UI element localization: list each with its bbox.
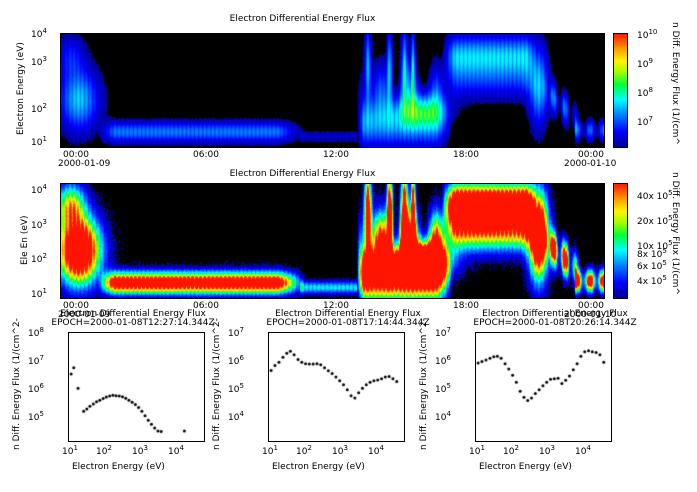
bottom-middle-x-tick-4: 104 (368, 447, 384, 457)
top-colorbar-frame (613, 33, 628, 148)
bottom-right-y-tick-4: 104 (435, 413, 451, 423)
top-panel-title: Electron Differential Energy Flux (0, 14, 605, 24)
bottom-left-y-tick-7: 107 (28, 357, 44, 367)
bottom-left-ylabel: n Diff. Energy Flux (1/(cm^2- (12, 318, 22, 450)
top-y-tick-3: 103 (31, 58, 47, 68)
middle-panel-ylabel: Ele En (eV) (20, 215, 30, 265)
top-y-tick-1: 101 (31, 138, 47, 148)
middle-colorbar-frame (613, 183, 628, 299)
top-y-tick-2: 102 (31, 105, 47, 115)
bottom-right-y-tick-7: 107 (435, 329, 451, 339)
bottom-right-x-tick-1: 101 (469, 447, 485, 457)
top-colorbar-tick-9: 109 (637, 60, 653, 70)
bottom-right-x-tick-4: 104 (575, 447, 591, 457)
middle-y-tick-4: 104 (31, 186, 47, 196)
bottom-left-y-tick-5: 105 (28, 413, 44, 423)
bottom-right-subtitle: EPOCH=2000-01-08T20:26:14.344Z (460, 318, 650, 328)
bottom-left-y-tick-8: 108 (28, 329, 44, 339)
middle-colorbar-label: n Diff. Energy Flux (1/(cm^ (670, 172, 680, 295)
bottom-middle-x-tick-3: 103 (332, 447, 348, 457)
bottom-middle-ylabel: n Diff. Energy Flux (1/(cm^2- (212, 318, 222, 450)
bottom-right-ylabel: n Diff. Energy Flux (1/(cm^2- (419, 318, 429, 450)
top-x-date-right: 2000-01-10 (564, 159, 616, 169)
middle-y-tick-1: 101 (31, 290, 47, 300)
bottom-middle-xlabel: Electron Energy (eV) (272, 462, 365, 472)
bottom-right-x-tick-2: 102 (503, 447, 519, 457)
bottom-left-x-tick-1: 101 (62, 447, 78, 457)
middle-panel-title: Electron Differential Energy Flux (0, 169, 605, 179)
bottom-left-y-tick-6: 106 (28, 385, 44, 395)
top-x-tick-3: 18:00 (453, 150, 479, 160)
bottom-left-x-tick-3: 103 (132, 447, 148, 457)
top-y-tick-4: 104 (31, 30, 47, 40)
bottom-right-frame (475, 332, 612, 442)
bottom-right-xlabel: Electron Energy (eV) (479, 462, 572, 472)
top-colorbar-label: n Diff. Energy Flux (1/(cm^ (670, 22, 680, 145)
bottom-right-y-tick-6: 106 (435, 357, 451, 367)
middle-colorbar-tick-6: 6x 105 (637, 262, 667, 272)
top-x-tick-2: 12:00 (323, 150, 349, 160)
middle-colorbar-tick-4: 4x 105 (637, 277, 667, 287)
middle-y-tick-2: 102 (31, 255, 47, 265)
top-x-tick-1: 06:00 (193, 150, 219, 160)
top-colorbar-tick-7: 107 (637, 118, 653, 128)
bottom-middle-y-tick-6: 106 (228, 357, 244, 367)
bottom-left-subtitle: EPOCH=2000-01-08T12:27:14.344Z (38, 318, 228, 328)
middle-colorbar-tick-40: 40x 105 (637, 192, 673, 202)
bottom-middle-x-tick-2: 102 (296, 447, 312, 457)
bottom-right-x-tick-3: 103 (539, 447, 555, 457)
bottom-left-x-tick-4: 104 (168, 447, 184, 457)
top-spectrogram-frame (60, 33, 605, 148)
middle-colorbar-tick-20: 20x 105 (637, 217, 673, 227)
bottom-middle-frame (268, 332, 405, 442)
bottom-middle-y-tick-7: 107 (228, 329, 244, 339)
top-panel-ylabel: Electron Energy (eV) (16, 42, 26, 135)
bottom-middle-x-tick-1: 101 (262, 447, 278, 457)
bottom-right-y-tick-5: 105 (435, 385, 451, 395)
bottom-left-frame (68, 332, 205, 442)
bottom-left-xlabel: Electron Energy (eV) (72, 462, 165, 472)
top-x-date-left: 2000-01-09 (58, 159, 110, 169)
bottom-middle-subtitle: EPOCH=2000-01-08T17:14:44.344Z (253, 318, 443, 328)
middle-spectrogram-frame (60, 183, 605, 299)
bottom-middle-y-tick-4: 104 (228, 413, 244, 423)
bottom-middle-y-tick-5: 105 (228, 385, 244, 395)
top-colorbar-tick-8: 108 (637, 89, 653, 99)
middle-y-tick-3: 103 (31, 221, 47, 231)
bottom-left-x-tick-2: 102 (96, 447, 112, 457)
top-colorbar-tick-10: 1010 (637, 31, 657, 41)
